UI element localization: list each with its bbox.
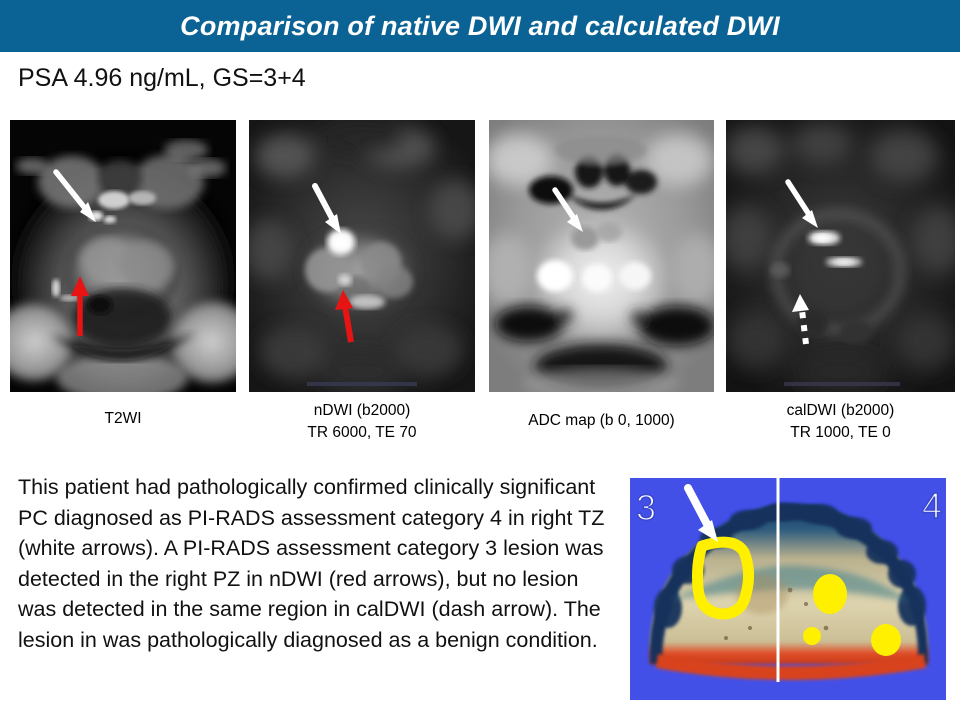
page-title: Comparison of native DWI and calculated … [0,0,960,52]
lesion-blob-annotation [813,574,847,614]
caption-line-1: T2WI [104,410,141,427]
caption-line-2: TR 1000, TE 0 [726,422,955,444]
title-bar: Comparison of native DWI and calculated … [0,0,960,52]
red-arrow-icon [71,276,89,336]
white-arrow-icon [315,186,341,234]
white-arrow-icon [555,190,583,232]
mri-panel-t2wi [10,120,236,392]
caption-line-1: calDWI (b2000) [787,402,895,419]
pathology-specimen-figure: 3 4 [630,478,946,700]
case-description: This patient had pathologically confirme… [18,472,614,655]
section-label-right: 4 [922,485,942,526]
caption-line-1: ADC map (b 0, 1000) [528,412,674,429]
white-arrow-icon [788,182,818,228]
white-dashed-arrow-icon [792,294,809,344]
caption-line-2: TR 6000, TE 70 [249,422,475,444]
mri-panel-adc [489,120,714,392]
lesion-blob-annotation [803,627,821,645]
caption-ndwi: nDWI (b2000) TR 6000, TE 70 [249,400,475,445]
pathology-specimen-image: 3 4 [630,478,946,700]
white-arrow-icon [56,172,96,222]
caption-adc: ADC map (b 0, 1000) [489,410,714,432]
caption-t2wi: T2WI [10,408,236,430]
ndwi-arrow-layer [249,120,475,392]
patient-info-line: PSA 4.96 ng/mL, GS=3+4 [18,64,306,93]
caption-caldwi: calDWI (b2000) TR 1000, TE 0 [726,400,955,445]
section-label-left: 3 [636,487,656,528]
mri-panel-ndwi [249,120,475,392]
lesion-blob-annotation [871,624,901,656]
mri-panel-caldwi [726,120,955,392]
adc-arrow-layer [489,120,714,392]
t2wi-arrow-layer [10,120,236,392]
caldwi-arrow-layer [726,120,955,392]
red-arrow-icon [335,290,353,342]
caption-line-1: nDWI (b2000) [314,402,410,419]
